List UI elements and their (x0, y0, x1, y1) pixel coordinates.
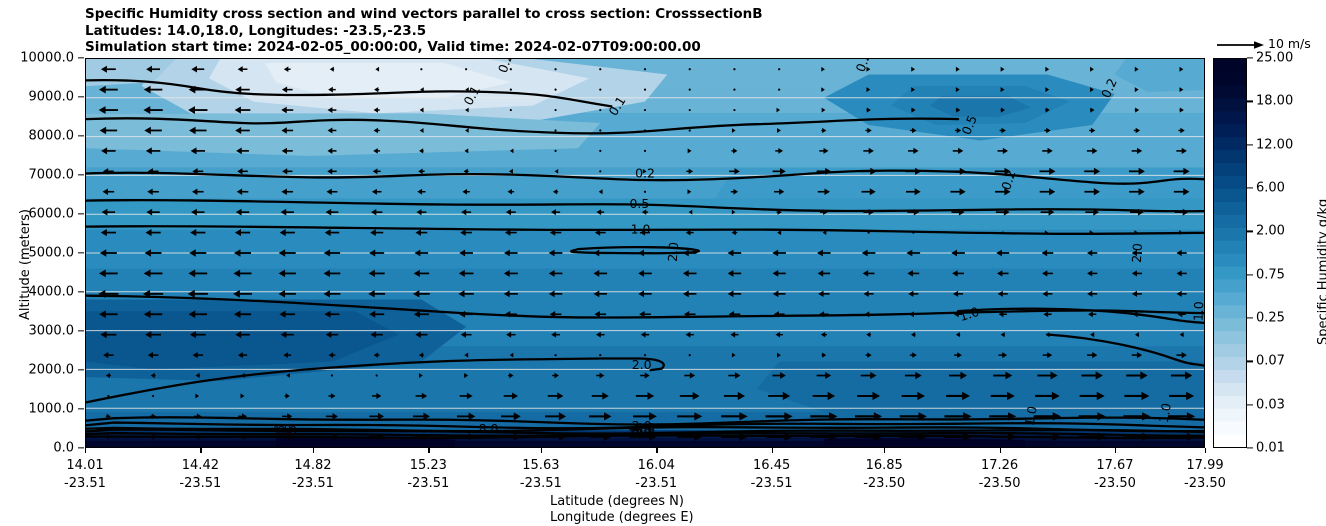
y-tick-mark (78, 408, 84, 409)
title-line-1: Specific Humidity cross section and wind… (85, 6, 1205, 23)
y-tick-mark (78, 135, 84, 136)
y-tick-label: 5000.0 (0, 246, 74, 261)
colorbar-tick-mark (1247, 231, 1253, 232)
x-axis-label-latitude: Latitude (degrees N) (550, 494, 684, 509)
svg-text:1.0: 1.0 (631, 221, 651, 236)
chart-title-block: Specific Humidity cross section and wind… (85, 6, 1205, 56)
colorbar-tick-mark (1247, 274, 1253, 275)
x-tick-label-longitude: -23.50 (1150, 476, 1260, 491)
title-line-3: Simulation start time: 2024-02-05_00:00:… (85, 39, 1205, 56)
y-tick-mark (78, 330, 84, 331)
x-tick-label-latitude: 15.63 (486, 458, 596, 473)
x-tick-label-latitude: 14.82 (258, 458, 368, 473)
colorbar-tick-label: 2.00 (1256, 224, 1285, 239)
svg-text:8.0: 8.0 (479, 421, 499, 436)
y-tick-label: 8000.0 (0, 129, 74, 144)
cross-section-plot: 0.10.10.20.20.20.20.20.50.51.01.01.02.02… (85, 58, 1205, 448)
x-tick-label-longitude: -23.51 (601, 476, 711, 491)
colorbar-tick-label: 0.03 (1256, 397, 1285, 412)
x-tick-label-latitude: 14.01 (30, 458, 140, 473)
x-tick-label-longitude: -23.51 (30, 476, 140, 491)
x-tick-mark (200, 448, 201, 453)
x-tick-mark (1205, 448, 1206, 453)
colorbar-tick-mark (1247, 144, 1253, 145)
x-tick-label-latitude: 16.04 (601, 458, 711, 473)
y-tick-label: 1000.0 (0, 402, 74, 417)
colorbar-tick-mark (1247, 361, 1253, 362)
x-tick-mark (541, 448, 542, 453)
x-tick-label-latitude: 17.99 (1150, 458, 1260, 473)
y-tick-label: 2000.0 (0, 363, 74, 378)
y-axis-label: Altitude (meters) (18, 209, 33, 320)
colorbar-tick-mark (1247, 447, 1253, 448)
y-tick-mark (78, 96, 84, 97)
x-tick-label-longitude: -23.51 (258, 476, 368, 491)
x-tick-mark (428, 448, 429, 453)
colorbar (1213, 58, 1247, 448)
colorbar-tick-label: 18.00 (1256, 94, 1293, 109)
title-line-2: Latitudes: 14.0,18.0, Longitudes: -23.5,… (85, 23, 1205, 40)
y-tick-mark (78, 252, 84, 253)
colorbar-tick-mark (1247, 404, 1253, 405)
x-tick-label-longitude: -23.51 (717, 476, 827, 491)
y-tick-label: 9000.0 (0, 90, 74, 105)
x-tick-label-latitude: 16.85 (829, 458, 939, 473)
x-tick-label-latitude: 14.42 (145, 458, 255, 473)
y-tick-label: 3000.0 (0, 324, 74, 339)
y-tick-mark (78, 57, 84, 58)
colorbar-tick-label: 0.01 (1256, 441, 1285, 456)
plot-canvas: 0.10.10.20.20.20.20.20.50.51.01.01.02.02… (86, 59, 1204, 447)
colorbar-tick-label: 0.07 (1256, 354, 1285, 369)
svg-text:0.5: 0.5 (630, 196, 650, 211)
colorbar-tick-mark (1247, 187, 1253, 188)
colorbar-tick-label: 0.25 (1256, 311, 1285, 326)
y-tick-mark (78, 447, 84, 448)
y-tick-mark (78, 369, 84, 370)
quiver-key-label: 10 m/s (1268, 36, 1311, 51)
svg-text:0.2: 0.2 (635, 166, 655, 181)
x-axis-label-longitude: Longitude (degrees E) (550, 510, 694, 525)
colorbar-tick-label: 12.00 (1256, 137, 1293, 152)
svg-text:2.0: 2.0 (665, 241, 681, 262)
y-tick-label: 0.0 (0, 441, 74, 456)
y-tick-label: 6000.0 (0, 207, 74, 222)
x-tick-mark (656, 448, 657, 453)
x-tick-label-latitude: 16.45 (717, 458, 827, 473)
x-tick-label-longitude: -23.50 (945, 476, 1055, 491)
x-tick-mark (85, 448, 86, 453)
y-tick-mark (78, 174, 84, 175)
colorbar-tick-mark (1247, 317, 1253, 318)
colorbar-gradient (1214, 59, 1246, 447)
quiver-key: 10 m/s (1216, 36, 1326, 56)
x-tick-label-longitude: -23.51 (486, 476, 596, 491)
x-tick-mark (772, 448, 773, 453)
colorbar-tick-mark (1247, 57, 1253, 58)
x-tick-mark (1115, 448, 1116, 453)
colorbar-tick-label: 0.75 (1256, 267, 1285, 282)
y-tick-label: 4000.0 (0, 285, 74, 300)
x-tick-label-longitude: -23.50 (829, 476, 939, 491)
y-tick-mark (78, 291, 84, 292)
x-tick-mark (313, 448, 314, 453)
svg-text:2.0: 2.0 (632, 357, 652, 372)
y-tick-label: 7000.0 (0, 168, 74, 183)
x-tick-mark (884, 448, 885, 453)
y-tick-mark (78, 213, 84, 214)
colorbar-label: Specific Humidity g/kg (1316, 199, 1326, 345)
x-tick-label-longitude: -23.51 (373, 476, 483, 491)
quiver-arrow-icon (1216, 38, 1266, 52)
x-tick-mark (1000, 448, 1001, 453)
svg-text:1.0: 1.0 (1191, 301, 1204, 321)
x-tick-label-latitude: 15.23 (373, 458, 483, 473)
x-tick-label-longitude: -23.51 (145, 476, 255, 491)
colorbar-tick-mark (1247, 101, 1253, 102)
y-tick-label: 10000.0 (0, 51, 74, 66)
colorbar-tick-label: 6.00 (1256, 181, 1285, 196)
x-tick-label-latitude: 17.26 (945, 458, 1055, 473)
